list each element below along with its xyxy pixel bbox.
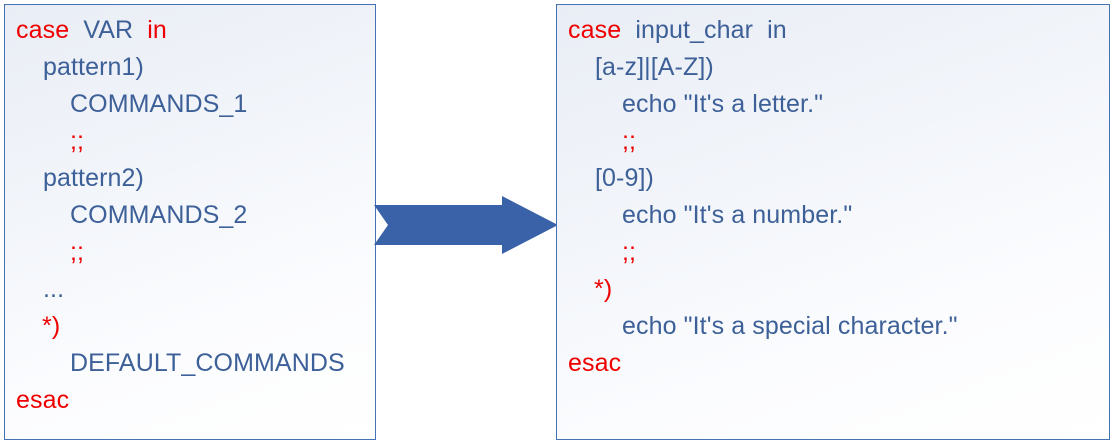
code-keyword-token: case bbox=[568, 16, 621, 44]
concrete-case-example-box: case input_char in[a-z]|[A-Z])echo "It's… bbox=[556, 4, 1110, 440]
left-code-line: DEFAULT_COMMANDS bbox=[5, 345, 375, 382]
right-code-line: echo "It's a number." bbox=[557, 197, 1109, 234]
right-code-line: esac bbox=[557, 345, 1109, 382]
arrow-shape bbox=[374, 196, 558, 254]
left-code-line: pattern1) bbox=[5, 49, 375, 86]
code-identifier-token: [a-z]|[A-Z]) bbox=[595, 53, 714, 81]
right-code-lines: case input_char in[a-z]|[A-Z])echo "It's… bbox=[557, 5, 1109, 439]
code-identifier-token bbox=[621, 16, 635, 44]
left-code-line: esac bbox=[5, 382, 375, 419]
right-code-line: echo "It's a special character." bbox=[557, 308, 1109, 345]
code-identifier-token: echo "It's a special character." bbox=[622, 312, 958, 340]
code-keyword-token: ;; bbox=[70, 127, 84, 155]
code-keyword-token: case bbox=[16, 16, 69, 44]
left-code-lines: case VAR inpattern1)COMMANDS_1;;pattern2… bbox=[5, 5, 375, 439]
left-code-line: ;; bbox=[5, 234, 375, 271]
code-keyword-token: *) bbox=[594, 275, 612, 303]
generic-case-syntax-box: case VAR inpattern1)COMMANDS_1;;pattern2… bbox=[4, 4, 376, 440]
code-keyword-token: ;; bbox=[622, 238, 636, 266]
right-code-line: case input_char in bbox=[557, 12, 1109, 49]
left-code-line: COMMANDS_1 bbox=[5, 86, 375, 123]
code-identifier-token bbox=[753, 16, 767, 44]
right-block-arrow-icon bbox=[374, 196, 558, 254]
right-code-line: ;; bbox=[557, 234, 1109, 271]
left-code-line: ... bbox=[5, 271, 375, 308]
code-keyword-token: esac bbox=[16, 386, 69, 414]
code-identifier-token: COMMANDS_2 bbox=[70, 201, 247, 229]
right-code-line: [a-z]|[A-Z]) bbox=[557, 49, 1109, 86]
left-code-line: *) bbox=[5, 308, 375, 345]
code-identifier-token: [0-9]) bbox=[595, 164, 654, 192]
code-identifier-token: echo "It's a letter." bbox=[622, 90, 823, 118]
code-identifier-token: in bbox=[767, 16, 787, 44]
code-identifier-token: DEFAULT_COMMANDS bbox=[70, 349, 345, 377]
code-identifier-token: ... bbox=[43, 275, 64, 303]
left-code-line: case VAR in bbox=[5, 12, 375, 49]
left-code-line: ;; bbox=[5, 123, 375, 160]
code-keyword-token: ;; bbox=[622, 127, 636, 155]
code-identifier-token bbox=[69, 16, 83, 44]
right-code-line: *) bbox=[557, 271, 1109, 308]
code-keyword-token: *) bbox=[42, 312, 60, 340]
code-keyword-token: esac bbox=[568, 349, 621, 377]
left-code-line: pattern2) bbox=[5, 160, 375, 197]
code-identifier-token: input_char bbox=[635, 16, 753, 44]
right-code-line: [0-9]) bbox=[557, 160, 1109, 197]
left-code-line: COMMANDS_2 bbox=[5, 197, 375, 234]
right-code-line: echo "It's a letter." bbox=[557, 86, 1109, 123]
code-identifier-token: VAR bbox=[83, 16, 133, 44]
code-identifier-token: echo "It's a number." bbox=[622, 201, 852, 229]
code-identifier-token: pattern1) bbox=[43, 53, 144, 81]
right-code-line: ;; bbox=[557, 123, 1109, 160]
code-identifier-token bbox=[133, 16, 147, 44]
code-keyword-token: in bbox=[147, 16, 167, 44]
code-identifier-token: pattern2) bbox=[43, 164, 144, 192]
code-identifier-token: COMMANDS_1 bbox=[70, 90, 247, 118]
code-keyword-token: ;; bbox=[70, 238, 84, 266]
